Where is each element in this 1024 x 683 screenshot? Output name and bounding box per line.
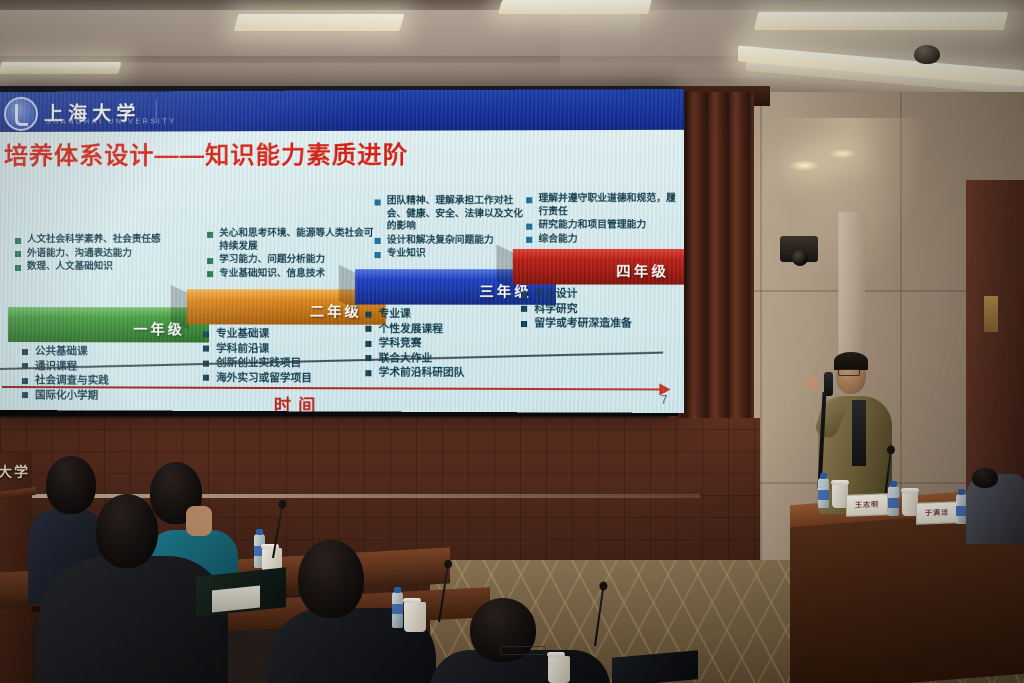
recessed-downlight (828, 148, 858, 159)
course-item: 个性发展课程 (363, 321, 464, 336)
course-item: 海外实习或留学项目 (201, 370, 312, 385)
lectern-sign-text: 大学 (0, 462, 30, 482)
course-item: 公共基础课 (20, 344, 109, 359)
step-bar-year4: 四年级 (513, 258, 684, 285)
tea-cup[interactable] (404, 602, 426, 632)
water-bottle[interactable] (818, 478, 829, 508)
ceiling-light-panel (234, 14, 405, 31)
audience-head (298, 540, 364, 618)
bottle-label (888, 498, 899, 508)
water-bottle[interactable] (392, 592, 403, 628)
audience-hand (186, 506, 212, 536)
bottle-label (392, 604, 403, 614)
course-item: 学科竞赛 (363, 336, 464, 351)
course-item: 学术前沿科研团队 (363, 366, 464, 381)
course-item: 国际化小学期 (20, 388, 109, 403)
glasses-icon (500, 646, 546, 655)
door-handle-plate[interactable] (984, 296, 998, 332)
presenter-hair (834, 352, 868, 370)
audience-head (96, 494, 158, 568)
door-frame[interactable] (966, 180, 1024, 510)
slide-page-number: 7 (661, 393, 668, 407)
dome-camera-icon (914, 45, 940, 64)
presentation-screen[interactable]: 上海大学 SHANGHAI UNIVERSITY 培养体系设计——知识能力素质进… (0, 89, 684, 413)
course-item: 学科前沿课 (201, 341, 312, 356)
course-list-year1: 公共基础课 通识课程 社会调查与实践 国际化小学期 (20, 344, 109, 403)
step-label: 四年级 (616, 261, 669, 281)
screenshot-root: 上海大学 SHANGHAI UNIVERSITY 培养体系设计——知识能力素质进… (0, 0, 1024, 683)
axis-label: 时间 (274, 391, 323, 413)
bottle-label (818, 490, 829, 500)
wall-pilaster (838, 212, 865, 358)
course-list-year3: 专业课 个性发展课程 学科竞赛 联合大作业 学术前沿科研团队 (363, 307, 464, 381)
wall-rail (0, 494, 700, 498)
course-item: 毕业设计 (519, 286, 632, 301)
course-item: 专业课 (363, 307, 464, 322)
tea-cup[interactable] (548, 656, 570, 683)
course-list-year2: 专业基础课 学科前沿课 创新创业实践项目 海外实习或留学项目 (201, 326, 312, 385)
ceiling-light-panel (0, 62, 121, 74)
glasses-icon (838, 369, 860, 376)
name-card-text: 王志明 (855, 500, 879, 511)
recessed-downlight (790, 160, 820, 171)
audience-torso (38, 556, 228, 683)
name-card-text: 于满洁 (925, 508, 949, 519)
water-bottle[interactable] (888, 486, 899, 516)
ceiling-light-panel (498, 0, 652, 14)
wall-camera-icon (780, 236, 818, 262)
name-card: 王志明 (846, 493, 888, 516)
audience-head (46, 456, 96, 514)
course-list-year4: 毕业设计 科学研究 留学或考研深造准备 (519, 286, 632, 331)
ceiling-light-panel (754, 12, 1008, 30)
course-item: 留学或考研深造准备 (519, 316, 632, 331)
presenter-shirt (852, 400, 866, 466)
course-item: 专业基础课 (201, 326, 312, 341)
name-card: 于满洁 (916, 501, 958, 524)
presenter-hand-with-clicker[interactable] (804, 376, 818, 389)
course-item: 科学研究 (519, 301, 632, 316)
panelist-head (972, 468, 998, 488)
